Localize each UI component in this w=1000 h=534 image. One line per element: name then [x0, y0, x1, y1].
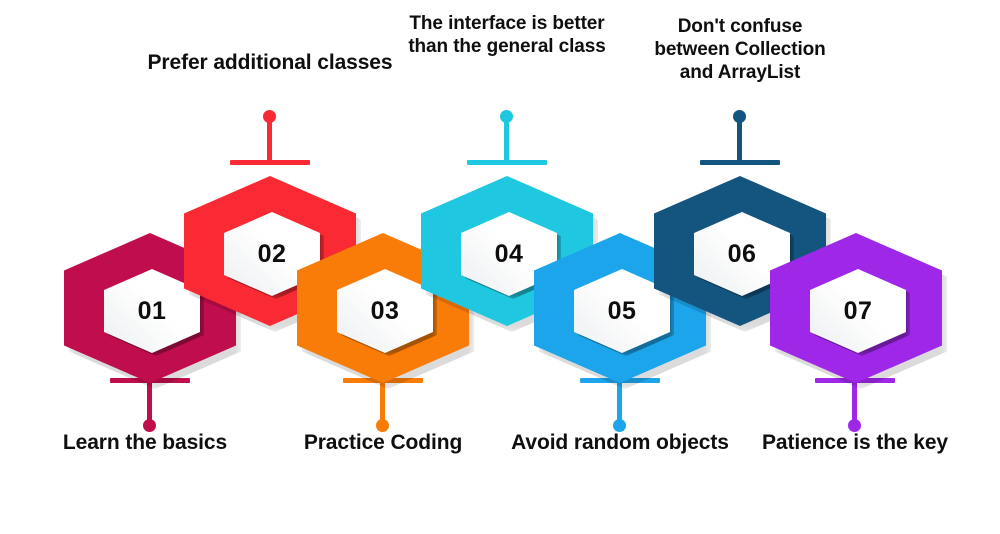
step-number-01: 01	[110, 263, 194, 359]
connector-stem-04	[467, 110, 547, 166]
step-label-07: Patience is the key	[745, 430, 965, 456]
step-number-07: 07	[816, 263, 900, 359]
step-label-01: Learn the basics	[25, 430, 265, 456]
step-label-06: Don't confuse between Collection and Arr…	[640, 16, 840, 84]
infographic-canvas: 01 02 03 04 05 06	[0, 0, 1000, 534]
step-label-02: Prefer additional classes	[145, 50, 395, 76]
connector-line-04	[504, 116, 509, 164]
step-number-05: 05	[580, 263, 664, 359]
connector-stem-06	[700, 110, 780, 166]
connector-line-06	[737, 116, 742, 164]
step-label-05: Avoid random objects	[500, 430, 740, 456]
connector-line-02	[267, 116, 272, 164]
connector-stem-02	[230, 110, 310, 166]
step-node-07[interactable]: 07	[781, 222, 931, 394]
step-number-03: 03	[343, 263, 427, 359]
step-label-03: Practice Coding	[263, 430, 503, 456]
step-label-04: The interface is better than the general…	[402, 13, 612, 59]
